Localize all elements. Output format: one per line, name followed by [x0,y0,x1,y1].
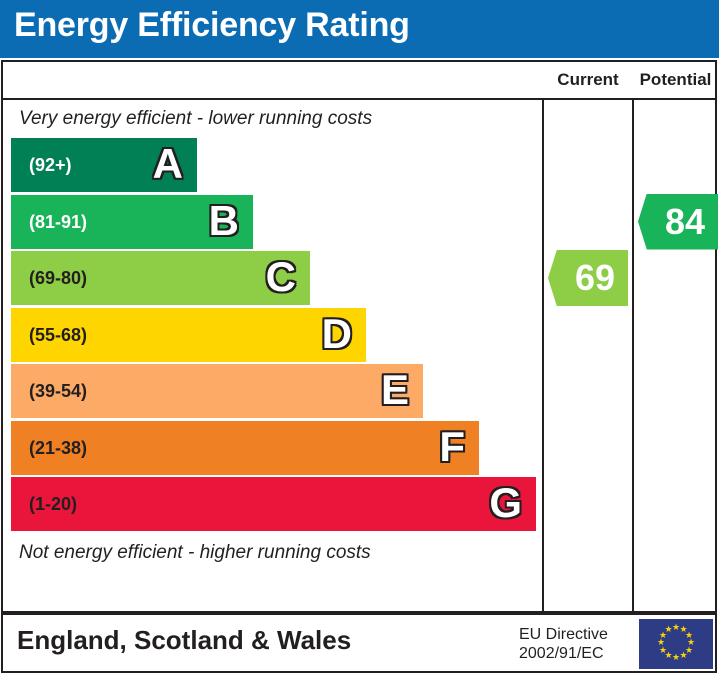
band-bar-f: (21-38)F [11,421,479,475]
rating-current: 69 [548,250,628,306]
title-bar: Energy Efficiency Rating [0,0,719,58]
band-bar-a: (92+)A [11,138,197,192]
band-letter-g: G [489,477,522,531]
footer-directive-line1: EU Directive [519,625,629,644]
caption-inefficient: Not energy efficient - higher running co… [3,536,542,570]
energy-efficiency-rating-certificate: Energy Efficiency Rating Current Potenti… [0,0,719,675]
band-range-a: (92+) [29,138,72,192]
band-range-e: (39-54) [29,364,87,418]
rating-potential-value: 84 [665,201,705,242]
footer-directive-line2: 2002/91/EC [519,644,629,663]
footer: England, Scotland & Wales EU Directive 2… [1,613,717,673]
band-range-f: (21-38) [29,421,87,475]
column-divider-1 [542,100,544,611]
rating-potential: 84 [638,194,718,250]
band-range-g: (1-20) [29,477,77,531]
band-letter-e: E [381,364,409,418]
footer-directive: EU Directive 2002/91/EC [519,625,629,663]
band-bar-g: (1-20)G [11,477,536,531]
band-bar-b: (81-91)B [11,195,253,249]
rating-current-value: 69 [575,257,615,298]
band-letter-d: D [322,308,352,362]
band-bar-d: (55-68)D [11,308,366,362]
band-range-b: (81-91) [29,195,87,249]
band-bars-container: (92+)A(81-91)B(69-80)C(55-68)D(39-54)E(2… [3,138,542,534]
band-bar-e: (39-54)E [11,364,423,418]
caption-efficient: Very energy efficient - lower running co… [3,102,542,136]
band-range-c: (69-80) [29,251,87,305]
column-header-potential: Potential [634,62,717,98]
eu-flag-icon: ★★★★★★★★★★★★ [639,619,713,669]
band-letter-f: F [439,421,465,475]
band-letter-c: C [266,251,296,305]
chart-frame: Current Potential Very energy efficient … [1,60,717,613]
column-divider-2 [632,100,634,611]
footer-region-label: England, Scotland & Wales [17,625,351,656]
band-letter-a: A [153,138,183,192]
band-bar-c: (69-80)C [11,251,310,305]
page-title: Energy Efficiency Rating [14,6,410,45]
band-letter-b: B [209,195,239,249]
column-header-row: Current Potential [3,62,715,100]
band-range-d: (55-68) [29,308,87,362]
column-header-current: Current [544,62,632,98]
